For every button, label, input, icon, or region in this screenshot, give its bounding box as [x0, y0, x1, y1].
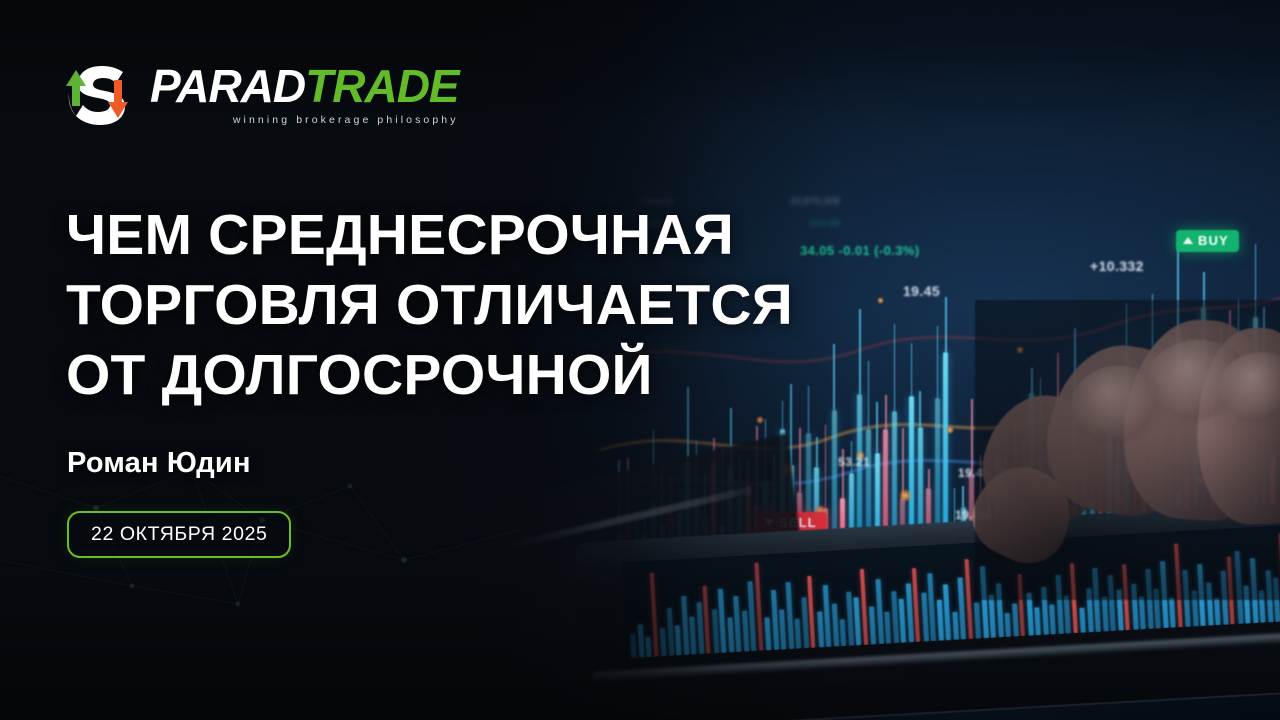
brand-name-part1: PARAD [150, 60, 305, 112]
headline-line-1: ЧЕМ СРЕДНЕСРОЧНАЯ [66, 200, 836, 270]
dual-arrow-s-mark-icon [60, 58, 140, 128]
brand-logo[interactable]: PARADTRADE winning brokerage philosophy [60, 58, 459, 128]
brand-tagline: winning brokerage philosophy [150, 114, 459, 126]
author-name: Роман Юдин [67, 447, 251, 480]
page-title: ЧЕМ СРЕДНЕСРОЧНАЯ ТОРГОВЛЯ ОТЛИЧАЕТСЯ ОТ… [66, 200, 836, 410]
banner-content: PARADTRADE winning brokerage philosophy … [0, 0, 1280, 720]
banner-canvas: Volume 24,875,309 Open 203.56 34.05 -0.0… [0, 0, 1280, 720]
brand-wordmark: PARADTRADE winning brokerage philosophy [150, 65, 459, 126]
brand-name-part2: TRADE [305, 60, 458, 112]
headline-line-3: ОТ ДОЛГОСРОЧНОЙ [66, 340, 836, 410]
date-badge: 22 ОКТЯБРЯ 2025 [67, 511, 291, 558]
headline-line-2: ТОРГОВЛЯ ОТЛИЧАЕТСЯ [66, 270, 836, 340]
